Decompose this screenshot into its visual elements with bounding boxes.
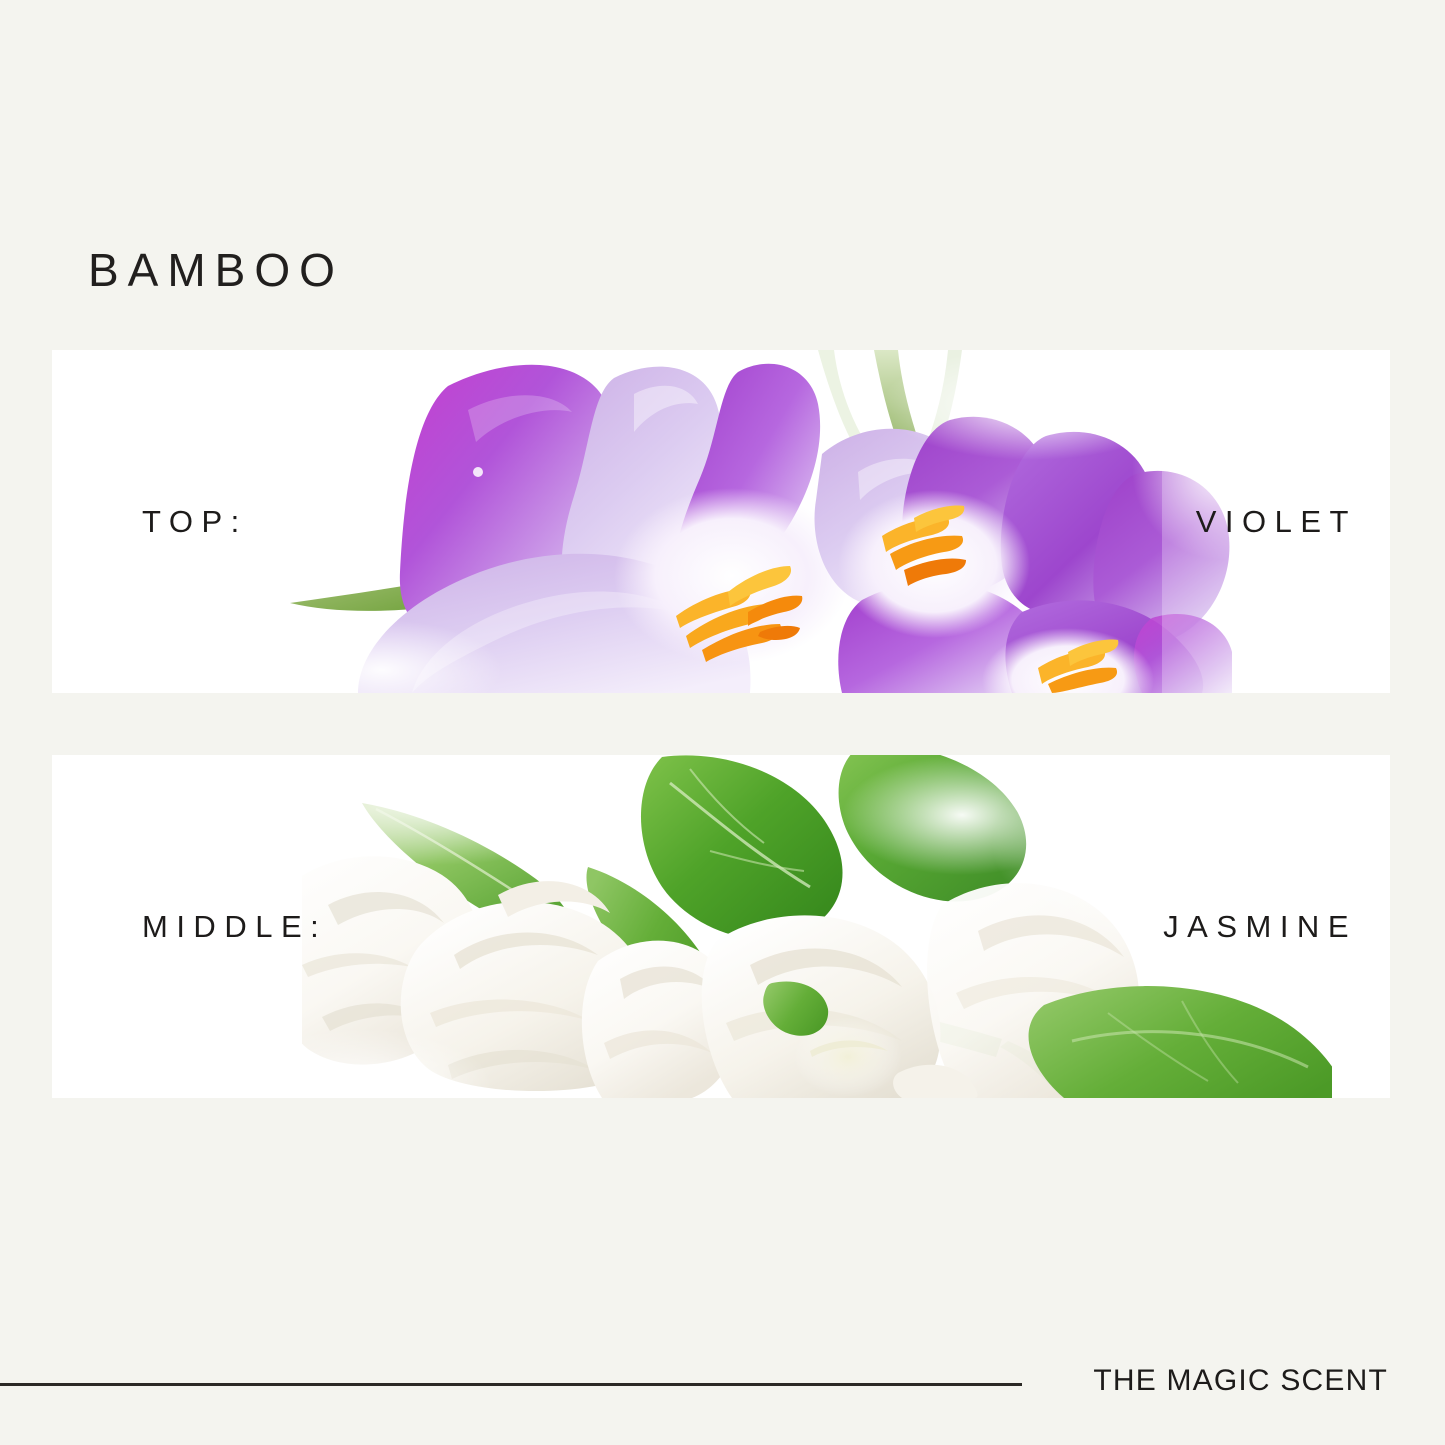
footer-divider xyxy=(0,1383,1022,1386)
scent-notes-card: BAMBOO xyxy=(0,0,1445,1445)
note-row-middle: MIDDLE: JASMINE xyxy=(52,755,1390,1098)
note-ingredient-violet: VIOLET xyxy=(1196,504,1357,540)
note-position-label-top: TOP: xyxy=(142,504,248,540)
note-row-top: TOP: VIOLET xyxy=(52,350,1390,693)
note-ingredient-jasmine: JASMINE xyxy=(1163,909,1357,945)
violet-flower-image xyxy=(262,350,1232,693)
note-position-label-middle: MIDDLE: xyxy=(142,909,327,945)
brand-name: THE MAGIC SCENT xyxy=(1093,1364,1388,1398)
page-title: BAMBOO xyxy=(88,247,344,293)
